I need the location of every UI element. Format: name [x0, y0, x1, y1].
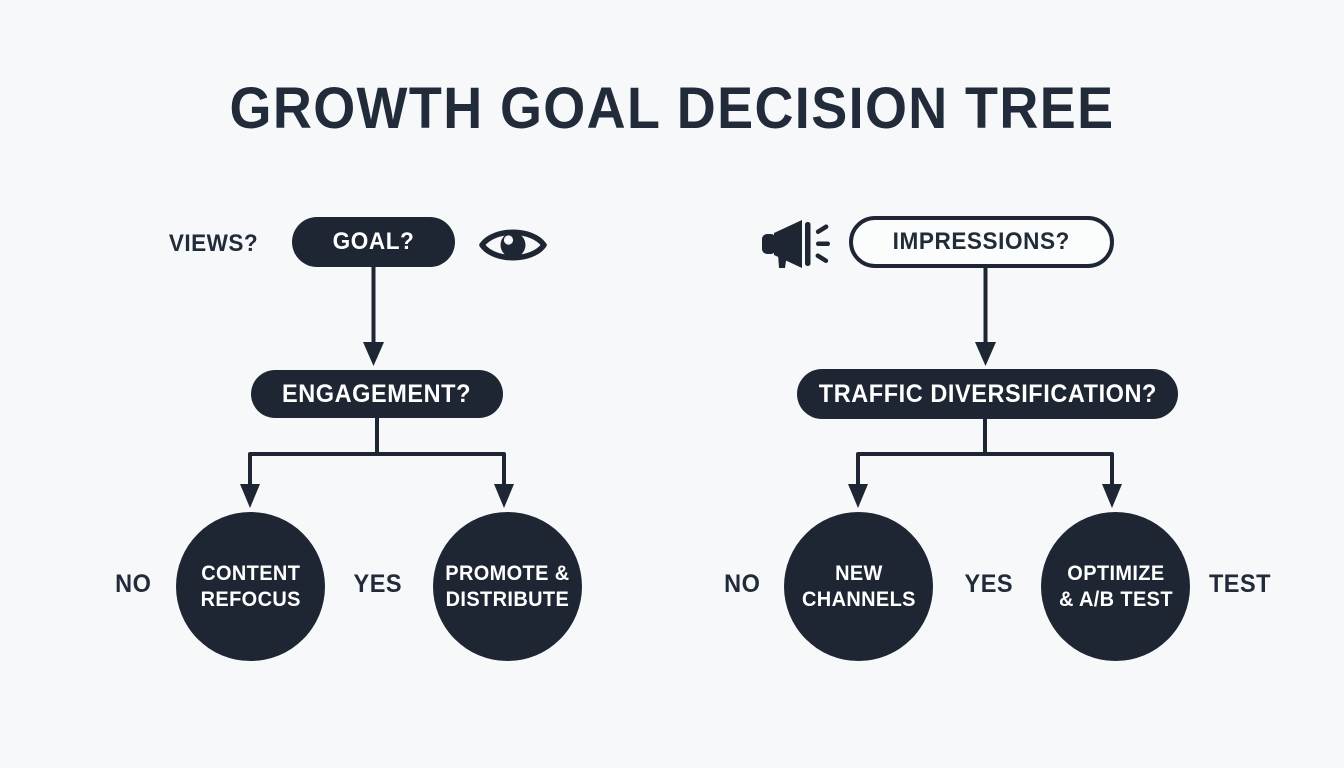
- eye-icon: [478, 222, 548, 268]
- node-traffic-diversification[interactable]: TRAFFIC DIVERSIFICATION?: [797, 369, 1178, 419]
- node-content-refocus-line1: CONTENT: [201, 562, 300, 585]
- node-new-channels[interactable]: NEW CHANNELS: [784, 512, 933, 661]
- right-test-label: TEST: [1209, 570, 1271, 599]
- node-impressions[interactable]: IMPRESSIONS?: [849, 216, 1114, 268]
- connector-engagement-split: [220, 418, 540, 518]
- diagram-canvas: GROWTH GOAL DECISION TREE VIEWS? GOAL? N…: [0, 0, 1344, 768]
- node-content-refocus[interactable]: CONTENT REFOCUS: [176, 512, 325, 661]
- node-promote-distribute-line1: PROMOTE &: [445, 562, 569, 585]
- right-no-label: NO: [724, 570, 760, 599]
- node-impressions-label: IMPRESSIONS?: [893, 228, 1070, 256]
- node-content-refocus-line2: REFOCUS: [200, 588, 300, 611]
- node-engagement[interactable]: ENGAGEMENT?: [251, 370, 503, 418]
- node-promote-distribute[interactable]: PROMOTE & DISTRIBUTE: [433, 512, 582, 661]
- node-optimize-ab-test[interactable]: OPTIMIZE & A/B TEST: [1041, 512, 1190, 661]
- node-optimize-ab-test-line2: & A/B TEST: [1059, 588, 1173, 611]
- megaphone-icon: [760, 216, 832, 272]
- node-goal-label: GOAL?: [333, 228, 415, 256]
- node-promote-distribute-line2: DISTRIBUTE: [446, 588, 570, 611]
- node-optimize-ab-test-line1: OPTIMIZE: [1067, 562, 1164, 585]
- left-no-label: NO: [115, 570, 151, 599]
- left-yes-label: YES: [354, 570, 402, 599]
- connector-impressions-to-traffic: [967, 268, 1007, 374]
- left-views-label: VIEWS?: [169, 230, 258, 258]
- node-new-channels-line1: NEW: [835, 562, 883, 585]
- right-yes-label: YES: [965, 570, 1013, 599]
- node-traffic-diversification-label: TRAFFIC DIVERSIFICATION?: [818, 380, 1156, 409]
- page-title: GROWTH GOAL DECISION TREE: [47, 78, 1297, 140]
- node-engagement-label: ENGAGEMENT?: [283, 380, 472, 409]
- connector-traffic-split: [828, 418, 1148, 518]
- node-goal[interactable]: GOAL?: [292, 217, 455, 267]
- node-new-channels-line2: CHANNELS: [802, 588, 916, 611]
- connector-goal-to-engagement: [355, 266, 395, 374]
